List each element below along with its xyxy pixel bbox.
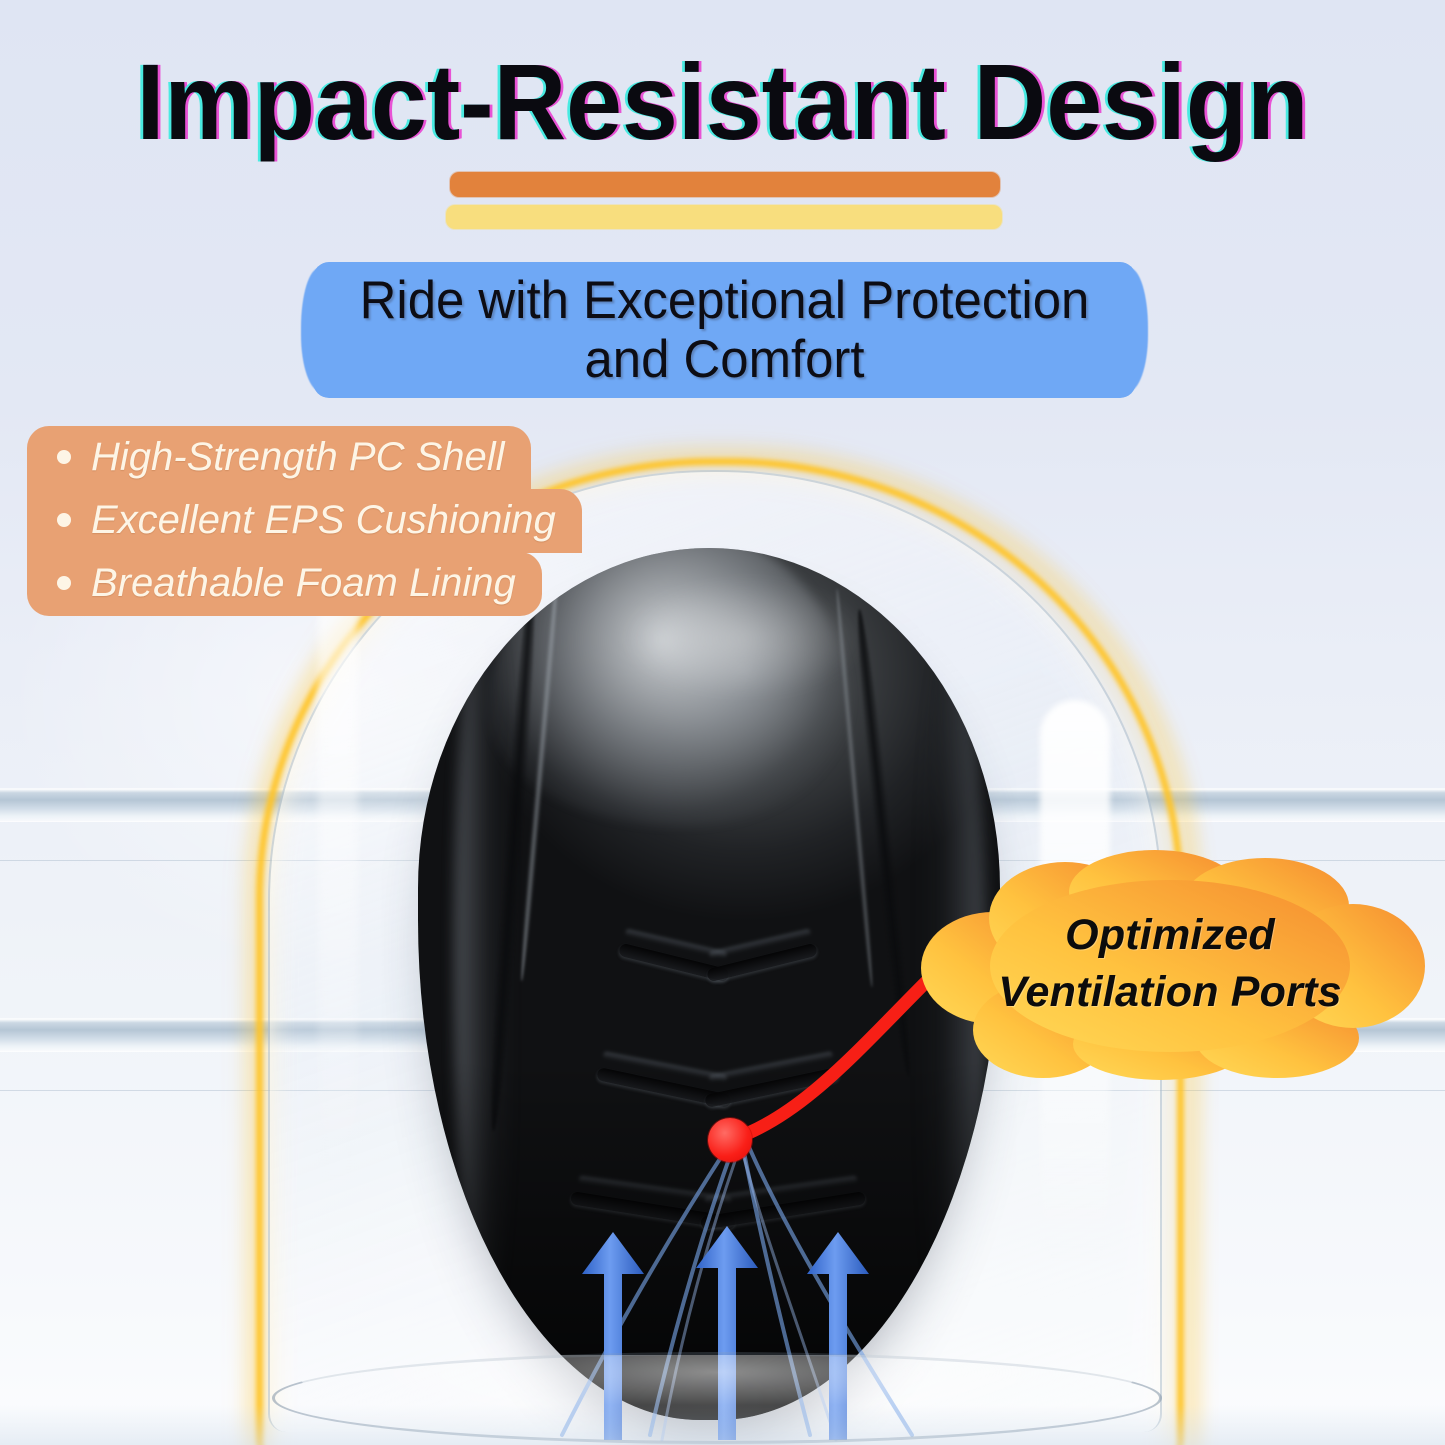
title-underline-secondary [446,205,1002,229]
callout-line-1: Optimized [1065,907,1275,964]
dome-highlight-left [318,560,358,1180]
ground-plane [0,1405,1445,1445]
pointer-dot [708,1118,752,1162]
helmet-specular-highlight [618,578,868,698]
subtitle-text: Ride with Exceptional Protection and Com… [329,262,1119,398]
bullet-dot-icon [57,576,71,590]
feature-list: High-Strength PC Shell Excellent EPS Cus… [27,426,587,616]
callout-text: Optimized Ventilation Ports [915,848,1425,1080]
feature-label-1: High-Strength PC Shell [91,437,505,477]
poster-canvas: Optimized Ventilation Ports Impact-Resis… [0,0,1445,1445]
feature-item-3: Breathable Foam Lining [27,552,542,616]
title-underline-primary [450,172,1000,197]
subtitle-line-1: Ride with Exceptional Protection [360,271,1090,330]
callout-cloud: Optimized Ventilation Ports [915,848,1425,1080]
subtitle-banner: Ride with Exceptional Protection and Com… [313,262,1136,398]
subtitle-line-2: and Comfort [585,330,865,389]
callout-line-2: Ventilation Ports [998,964,1341,1021]
feature-label-3: Breathable Foam Lining [91,563,516,603]
feature-item-2: Excellent EPS Cushioning [27,489,582,553]
page-title: Impact-Resistant Design [51,48,1395,156]
feature-item-1: High-Strength PC Shell [27,426,531,490]
feature-label-2: Excellent EPS Cushioning [91,500,556,540]
bullet-dot-icon [57,513,71,527]
bullet-dot-icon [57,450,71,464]
